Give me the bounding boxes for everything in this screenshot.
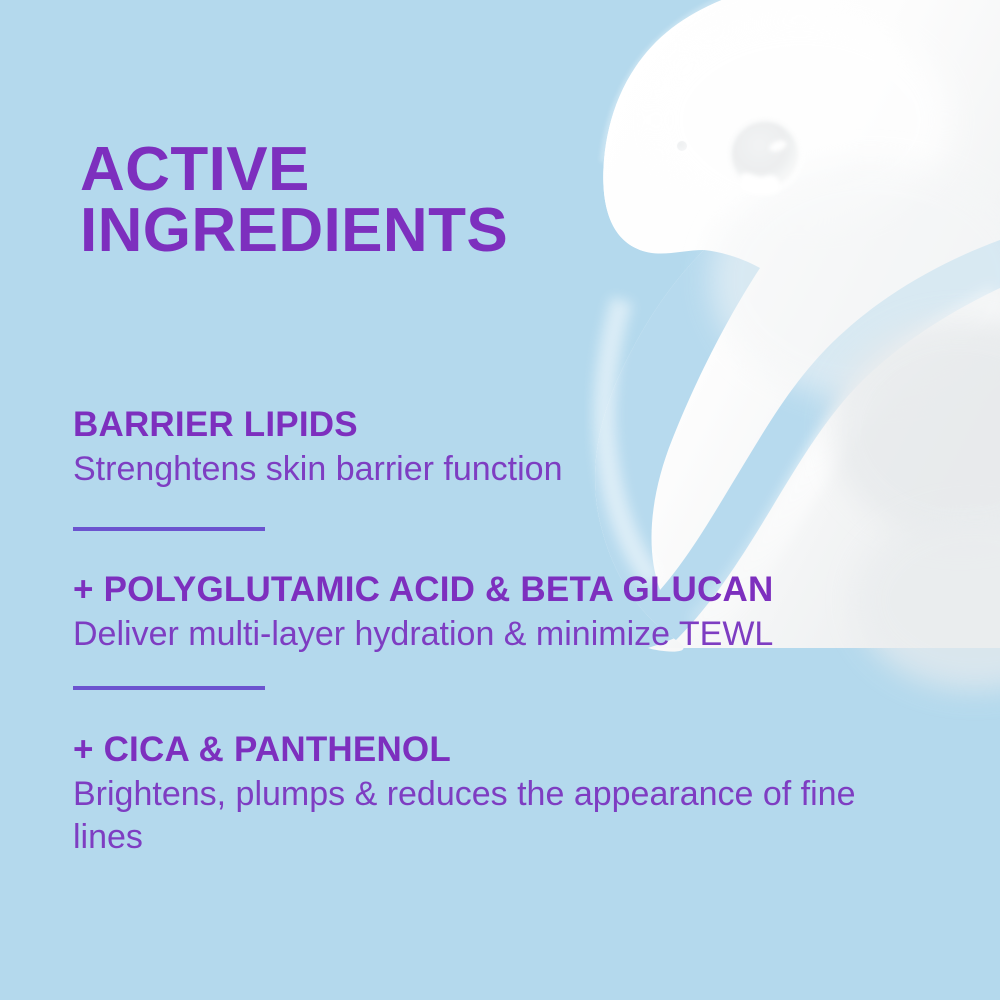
ingredient-item-barrier-lipids: BARRIER LIPIDS Strenghtens skin barrier … <box>73 405 963 491</box>
ingredient-item-cica-panthenol: + CICA & PANTHENOL Brightens, plumps & r… <box>73 730 963 859</box>
ingredient-item-polyglutamic-acid-beta-glucan: + POLYGLUTAMIC ACID & BETA GLUCAN Delive… <box>73 570 963 656</box>
ingredient-description: Deliver multi-layer hydration & minimize… <box>73 613 873 656</box>
ingredient-name: + POLYGLUTAMIC ACID & BETA GLUCAN <box>73 570 963 609</box>
spacer <box>73 690 963 730</box>
page-title: ACTIVE INGREDIENTS <box>80 139 640 262</box>
ingredient-description: Strenghtens skin barrier function <box>73 448 873 491</box>
spacer <box>73 656 963 686</box>
ingredient-list: BARRIER LIPIDS Strenghtens skin barrier … <box>73 405 963 859</box>
spacer <box>73 531 963 570</box>
ingredient-name: + CICA & PANTHENOL <box>73 730 963 769</box>
spacer <box>73 491 963 527</box>
cream-bubble-small <box>676 140 688 152</box>
cream-bubble-large <box>729 119 801 195</box>
ingredient-description: Brightens, plumps & reduces the appearan… <box>73 773 873 859</box>
ingredient-name: BARRIER LIPIDS <box>73 405 963 444</box>
active-ingredients-poster: ACTIVE INGREDIENTS BARRIER LIPIDS Streng… <box>0 0 1000 1000</box>
